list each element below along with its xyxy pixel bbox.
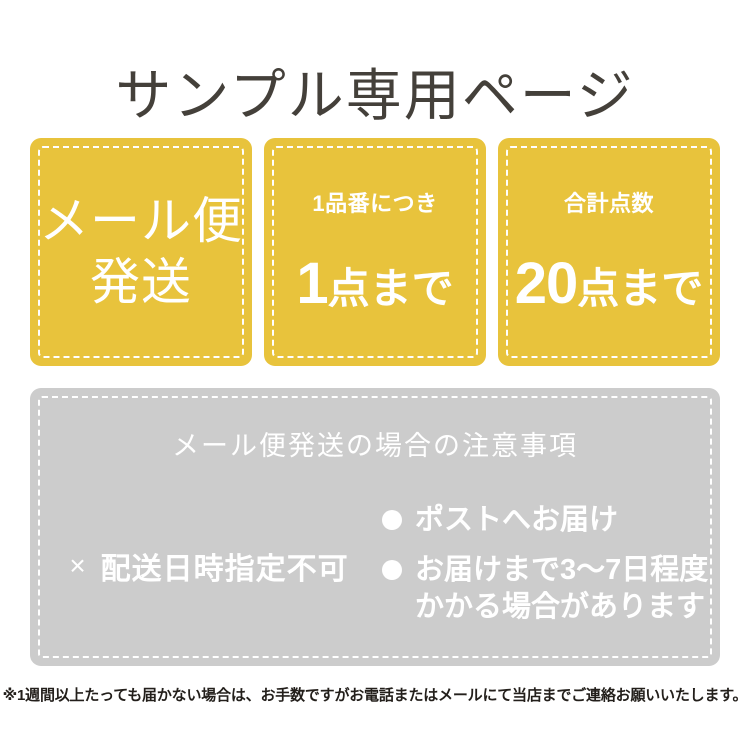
total-limit-number: 20 — [515, 251, 578, 316]
feature-box-total-limit: 合計点数 20点まで — [498, 138, 720, 366]
total-limit-unit: 点まで — [577, 265, 703, 312]
total-limit-value: 20点まで — [498, 255, 720, 313]
feature-box-row: メール便 発送 1品番につき 1点まで 合計点数 20点まで — [30, 138, 720, 366]
per-item-limit-content: 1品番につき 1点まで — [264, 191, 486, 313]
bullet-text: お届けまで3〜7日程度 かかる場合があります — [415, 552, 708, 627]
list-item: ポストへお届け — [382, 502, 720, 540]
restriction-label: 配送日時指定不可 — [101, 544, 349, 588]
bullet-text: ポストへお届け — [415, 502, 618, 540]
feature-box-per-item-limit: 1品番につき 1点まで — [264, 138, 486, 366]
total-limit-caption: 合計点数 — [498, 191, 720, 217]
restriction-item: × 配送日時指定不可 — [69, 544, 348, 588]
notice-restriction-column: × 配送日時指定不可 — [30, 496, 382, 636]
shipping-method-line-2: 発送 — [30, 252, 252, 313]
per-item-unit: 点まで — [328, 265, 454, 312]
per-item-number: 1 — [296, 251, 327, 316]
bullet-dot-icon — [382, 560, 402, 580]
total-limit-content: 合計点数 20点まで — [498, 191, 720, 313]
page-title: サンプル専用ページ — [0, 64, 750, 128]
notice-bullet-column: ポストへお届け お届けまで3〜7日程度 かかる場合があります — [382, 496, 720, 639]
cross-icon: × — [69, 552, 86, 580]
shipping-method-line-1: メール便 — [30, 191, 252, 252]
shipping-method-content: メール便 発送 — [30, 191, 252, 313]
feature-box-shipping-method: メール便 発送 — [30, 138, 252, 366]
notice-heading: メール便発送の場合の注意事項 — [30, 424, 720, 463]
per-item-value: 1点まで — [264, 255, 486, 313]
list-item: お届けまで3〜7日程度 かかる場合があります — [382, 552, 720, 627]
footer-note: ※1週間以上たっても届かない場合は、お手数ですがお電話またはメールにて当店までご… — [0, 684, 750, 705]
bullet-dot-icon — [382, 510, 402, 530]
notice-panel: メール便発送の場合の注意事項 × 配送日時指定不可 ポストへお届け お届けまで3… — [30, 388, 720, 666]
per-item-caption: 1品番につき — [264, 191, 486, 217]
notice-body: × 配送日時指定不可 ポストへお届け お届けまで3〜7日程度 かかる場合がありま… — [30, 496, 720, 646]
